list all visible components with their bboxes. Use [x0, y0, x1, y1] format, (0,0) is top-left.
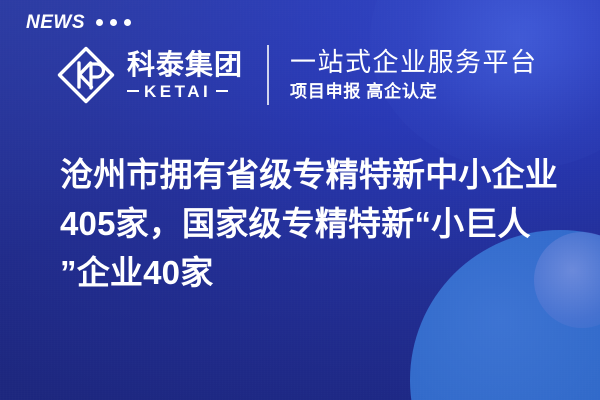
- headline: 沧州市拥有省级专精特新中小企业 405家，国家级专精特新“小巨人 ”企业40家: [60, 150, 574, 297]
- brand-lockup: 科泰集团 KETAI 一站式企业服务平台 项目申报 高企认定: [55, 44, 538, 106]
- brand-name-en: KETAI: [144, 83, 211, 100]
- news-dots-icon: [96, 19, 131, 26]
- dash-left-icon: [127, 90, 139, 92]
- dot-icon: [110, 19, 117, 26]
- dot-icon: [96, 19, 103, 26]
- news-banner: NEWS 科泰集团: [0, 0, 600, 400]
- slogan-block: 一站式企业服务平台 项目申报 高企认定: [290, 48, 538, 102]
- ketai-diamond-monogram-logo-icon: [55, 44, 117, 106]
- headline-line-3: ”企业40家: [60, 248, 574, 297]
- dash-right-icon: [216, 90, 228, 92]
- headline-line-1: 沧州市拥有省级专精特新中小企业: [60, 150, 574, 199]
- brand-divider: [267, 45, 269, 105]
- headline-line-2: 405家，国家级专精特新“小巨人: [60, 199, 574, 248]
- slogan-sub: 项目申报 高企认定: [290, 82, 538, 102]
- brand-name-en-row: KETAI: [127, 83, 243, 100]
- brand-wordmark: 科泰集团 KETAI: [127, 50, 243, 100]
- dot-icon: [124, 19, 131, 26]
- brand-name-cn: 科泰集团: [127, 50, 243, 80]
- news-header: NEWS: [26, 13, 131, 32]
- slogan-main: 一站式企业服务平台: [290, 48, 538, 77]
- news-label: NEWS: [26, 13, 85, 32]
